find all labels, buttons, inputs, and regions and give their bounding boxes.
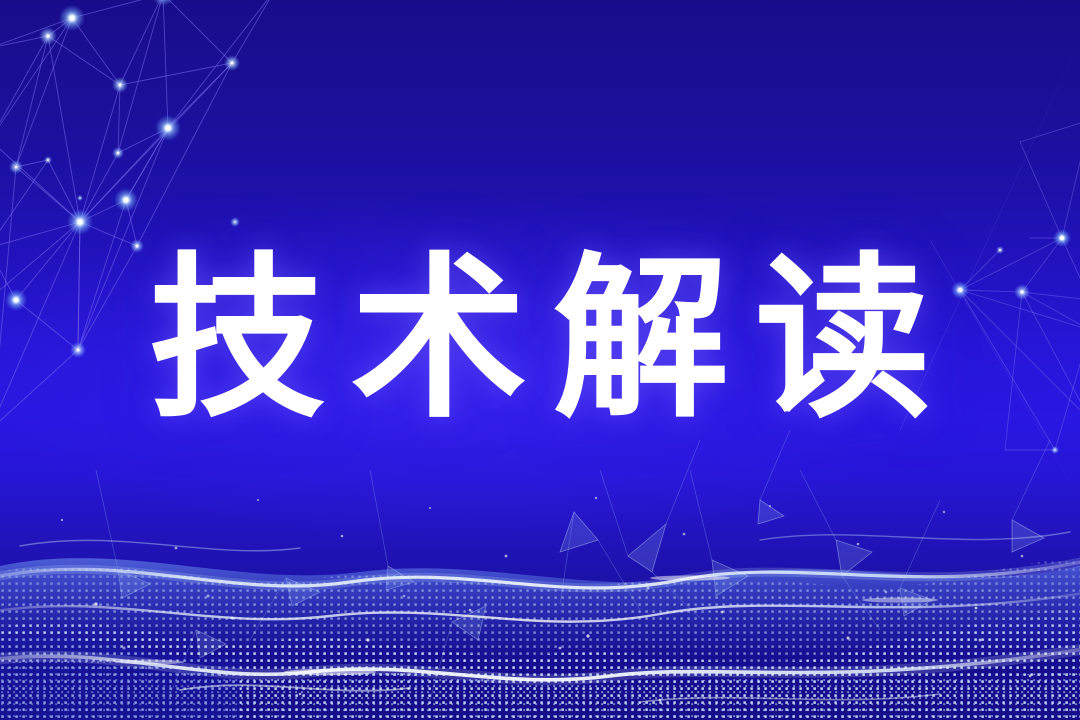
tech-banner: 技术解读 — [0, 0, 1080, 720]
banner-headline: 技术解读 — [0, 252, 1080, 428]
headline-text: 技术解读 — [123, 252, 957, 428]
